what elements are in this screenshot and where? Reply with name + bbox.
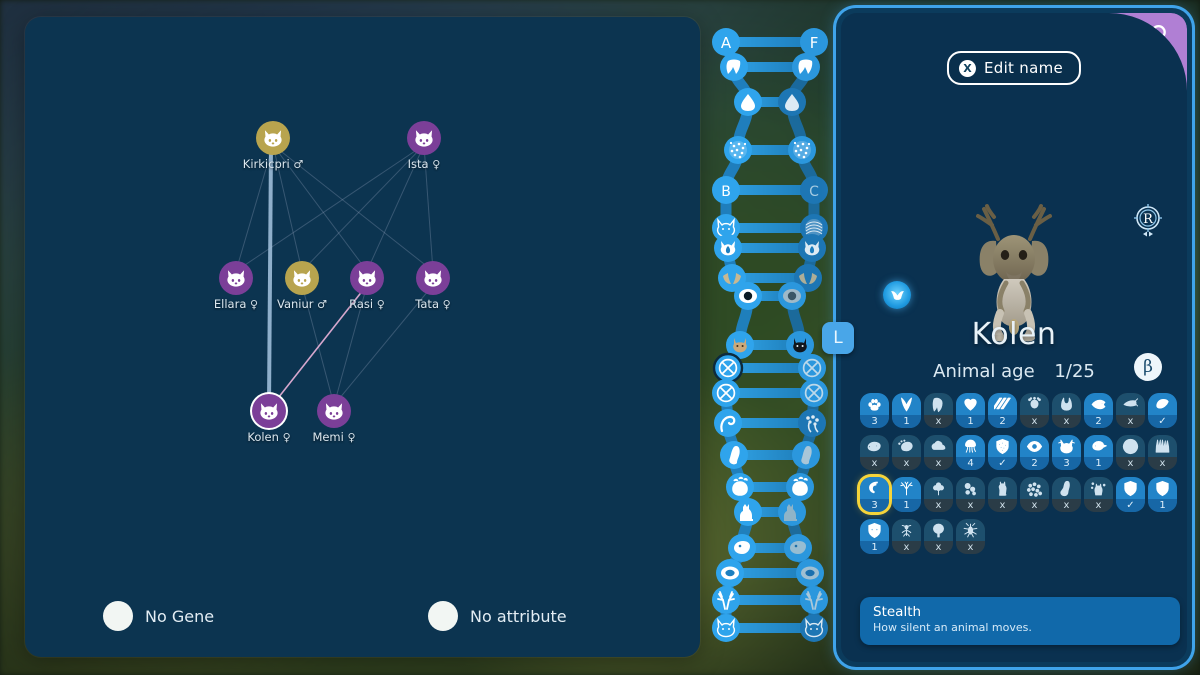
fish-icon bbox=[1084, 393, 1113, 416]
gene-cell-snout[interactable]: x bbox=[860, 435, 889, 470]
shield-snow-icon bbox=[1148, 477, 1177, 500]
gene-cell-value: x bbox=[924, 499, 953, 512]
gene-cell-beak[interactable]: 1 bbox=[1084, 435, 1113, 470]
gene-cell-spores[interactable]: x bbox=[1020, 477, 1049, 512]
helix-gene-left bbox=[721, 567, 739, 580]
gene-cell-value: x bbox=[1020, 415, 1049, 428]
legend-attribute-swatch bbox=[428, 601, 458, 631]
gene-tooltip: Stealth How silent an animal moves. bbox=[860, 597, 1180, 645]
helix-gene-left: B bbox=[721, 184, 731, 200]
gene-cell-value: x bbox=[988, 499, 1017, 512]
gene-cell-tree[interactable]: x bbox=[924, 519, 953, 554]
animal-head-icon bbox=[407, 121, 441, 155]
foot-icon bbox=[1052, 477, 1081, 500]
antler-icon bbox=[892, 477, 921, 500]
gene-cell-value: 1 bbox=[1148, 499, 1177, 512]
gene-cell-value: x bbox=[1084, 499, 1113, 512]
gene-cell-splash-cat[interactable]: x bbox=[1084, 477, 1113, 512]
gene-attribute-grid[interactable]: 31x12xx2x✓xxx4✓231xx31xxxxxx✓11xxx bbox=[860, 393, 1180, 554]
gene-cell-value: x bbox=[1052, 499, 1081, 512]
shield-spore-icon bbox=[988, 435, 1017, 458]
mane-icon bbox=[1148, 435, 1177, 458]
svg-text:C: C bbox=[809, 184, 819, 200]
helix-gene-right: C bbox=[809, 184, 819, 200]
beak-icon bbox=[1084, 435, 1113, 458]
tooltip-title: Stealth bbox=[873, 604, 1167, 621]
legend-no-attribute: No attribute bbox=[428, 601, 567, 631]
bug-icon bbox=[956, 519, 985, 542]
animal-head-icon bbox=[350, 261, 384, 295]
gene-cell-value: x bbox=[924, 415, 953, 428]
helix-gene-left bbox=[739, 289, 757, 303]
sniff-icon bbox=[892, 435, 921, 458]
gene-cell-value: x bbox=[1116, 457, 1145, 470]
gene-cell-value: ✓ bbox=[988, 457, 1017, 470]
shell-icon bbox=[1116, 435, 1145, 458]
gene-cell-value: 3 bbox=[860, 499, 889, 512]
legend-gene-label: No Gene bbox=[145, 607, 214, 626]
helix-gene-right bbox=[783, 289, 801, 303]
edit-name-label: Edit name bbox=[984, 59, 1063, 77]
gene-cell-shell[interactable]: x bbox=[1116, 435, 1145, 470]
gene-cell-insect[interactable]: x bbox=[892, 519, 921, 554]
gene-cell-value: x bbox=[892, 457, 921, 470]
gene-cell-value: x bbox=[892, 541, 921, 554]
gene-cell-cat-sit[interactable]: x bbox=[988, 477, 1017, 512]
dna-helix-graphic: AFBC bbox=[700, 0, 840, 675]
animal-age-label: Animal age bbox=[933, 361, 1035, 382]
speed-swirl-icon bbox=[860, 477, 889, 500]
insect-icon bbox=[892, 519, 921, 542]
tooltip-description: How silent an animal moves. bbox=[873, 621, 1167, 636]
tree-node-sex-glyph: ♀ bbox=[443, 298, 451, 311]
tail-fin-icon bbox=[892, 393, 921, 416]
animal-age-row: Animal age 1/25 bbox=[841, 361, 1187, 382]
leaf-bite-icon bbox=[1148, 393, 1177, 416]
gene-cell-value: x bbox=[1052, 415, 1081, 428]
helix-gene-right bbox=[793, 141, 811, 159]
tree-icon bbox=[924, 519, 953, 542]
x-button-icon: X bbox=[959, 60, 976, 77]
snout-icon bbox=[860, 435, 889, 458]
claw-icon bbox=[1052, 393, 1081, 416]
cat-sit-icon bbox=[988, 477, 1017, 500]
tree-node-label: Tata ♀ bbox=[343, 297, 523, 311]
cloud-icon bbox=[924, 435, 953, 458]
gene-cell-value: 4 bbox=[956, 457, 985, 470]
helix-gene-right: F bbox=[810, 34, 819, 52]
gene-cell-shield-tree[interactable]: ✓ bbox=[1116, 477, 1145, 512]
helix-gene-left: A bbox=[721, 34, 732, 52]
head-ears-icon bbox=[1052, 435, 1081, 458]
fur-tuft-icon bbox=[924, 393, 953, 416]
gene-cell-claw[interactable]: x bbox=[1052, 393, 1081, 428]
tree-node-sex-glyph: ♀ bbox=[348, 431, 356, 444]
animal-age-value: 1/25 bbox=[1054, 361, 1094, 382]
gene-cell-antler[interactable]: 1 bbox=[892, 477, 921, 512]
gene-cell-bubbles[interactable]: x bbox=[956, 477, 985, 512]
tree-node-sex-glyph: ♂ bbox=[293, 158, 303, 171]
animal-head-icon bbox=[219, 261, 253, 295]
gene-cell-spray[interactable]: x bbox=[1020, 393, 1049, 428]
gene-cell-value: x bbox=[860, 457, 889, 470]
animal-head-icon bbox=[416, 261, 450, 295]
gene-cell-bug[interactable]: x bbox=[956, 519, 985, 554]
r-stick-rotate-control[interactable]: R bbox=[1131, 203, 1165, 237]
family-tree-edges bbox=[25, 17, 700, 657]
gene-cell-value: 2 bbox=[988, 415, 1017, 428]
splash-cat-icon bbox=[1084, 477, 1113, 500]
gene-cell-value: 2 bbox=[1084, 415, 1113, 428]
gene-cell-stripes[interactable]: 2 bbox=[988, 393, 1017, 428]
legend-no-gene: No Gene bbox=[103, 601, 214, 631]
gene-cell-shield-paw[interactable]: 1 bbox=[860, 519, 889, 554]
stripes-icon bbox=[988, 393, 1017, 416]
gene-cell-value: 1 bbox=[860, 541, 889, 554]
r-badge-letter: R bbox=[1143, 212, 1154, 227]
gene-cell-value: 2 bbox=[1020, 457, 1049, 470]
bubbles-icon bbox=[956, 477, 985, 500]
helix-gene-right bbox=[801, 567, 819, 580]
gene-cell-sniff[interactable]: x bbox=[892, 435, 921, 470]
gene-cell-tail-fin[interactable]: 1 bbox=[892, 393, 921, 428]
animal-head-icon bbox=[317, 394, 351, 428]
svg-text:F: F bbox=[810, 34, 819, 52]
gene-cell-value: 3 bbox=[860, 415, 889, 428]
gene-cell-value: 1 bbox=[1084, 457, 1113, 470]
gene-cell-value: x bbox=[1148, 457, 1177, 470]
meat-icon bbox=[1116, 393, 1145, 416]
gene-grid-row: xxx4✓231xx bbox=[860, 435, 1180, 470]
gene-cell-mane[interactable]: x bbox=[1148, 435, 1177, 470]
flower-icon bbox=[924, 477, 953, 500]
gene-cell-fish[interactable]: 2 bbox=[1084, 393, 1113, 428]
svg-text:A: A bbox=[721, 34, 732, 52]
gene-cell-shield-spore[interactable]: ✓ bbox=[988, 435, 1017, 470]
gene-grid-row: 31xxxxxx✓1 bbox=[860, 477, 1180, 512]
shield-paw-icon bbox=[860, 519, 889, 542]
species-bird-icon[interactable] bbox=[883, 281, 911, 309]
animal-head-icon bbox=[256, 121, 290, 155]
gene-cell-value: x bbox=[924, 457, 953, 470]
gene-cell-flower[interactable]: x bbox=[924, 477, 953, 512]
gene-cell-head-ears[interactable]: 3 bbox=[1052, 435, 1081, 470]
animal-head-icon bbox=[252, 394, 286, 428]
animal-name: Kolen bbox=[841, 317, 1187, 352]
gene-cell-value: x bbox=[1020, 499, 1049, 512]
gene-cell-value: 1 bbox=[892, 499, 921, 512]
edit-name-button[interactable]: X Edit name bbox=[947, 51, 1081, 85]
l-button-label: L bbox=[833, 328, 842, 348]
svg-text:B: B bbox=[721, 184, 731, 200]
tree-node-sex-glyph: ♀ bbox=[432, 158, 440, 171]
gene-cell-value: ✓ bbox=[1148, 415, 1177, 428]
gene-grid-row: 31x12xx2x✓ bbox=[860, 393, 1180, 428]
gene-cell-leaf-bite[interactable]: ✓ bbox=[1148, 393, 1177, 428]
eye-icon bbox=[1020, 435, 1049, 458]
legend-gene-swatch bbox=[103, 601, 133, 631]
gene-cell-paw[interactable]: 3 bbox=[860, 393, 889, 428]
gene-cell-jellyfish[interactable]: 4 bbox=[956, 435, 985, 470]
paw-icon bbox=[860, 393, 889, 416]
gene-cell-value: 1 bbox=[956, 415, 985, 428]
l-shoulder-button[interactable]: L bbox=[822, 322, 854, 354]
legend-attribute-label: No attribute bbox=[470, 607, 567, 626]
gene-cell-speed-swirl[interactable]: 3 bbox=[860, 477, 889, 512]
spores-icon bbox=[1020, 477, 1049, 500]
sex-indicator: ♀ bbox=[1109, 13, 1187, 91]
gene-cell-value: 1 bbox=[892, 415, 921, 428]
gene-cell-foot[interactable]: x bbox=[1052, 477, 1081, 512]
gene-cell-value: ✓ bbox=[1116, 499, 1145, 512]
gene-cell-value: x bbox=[924, 541, 953, 554]
sex-glyph: ♀ bbox=[1149, 23, 1168, 49]
tree-node-label: Memi ♀ bbox=[244, 430, 424, 444]
gene-cell-shield-snow[interactable]: 1 bbox=[1148, 477, 1177, 512]
family-tree-panel: Kirkicpri ♂Ista ♀Ellara ♀Vaniur ♂Rasi ♀T… bbox=[25, 17, 700, 657]
shield-tree-icon bbox=[1116, 477, 1145, 500]
dna-helix[interactable]: AFBC bbox=[700, 0, 840, 675]
heart-icon bbox=[956, 393, 985, 416]
gene-cell-fur-tuft[interactable]: x bbox=[924, 393, 953, 428]
animal-detail-panel: ♀ X Edit name bbox=[836, 8, 1192, 667]
tree-node-label: Ista ♀ bbox=[334, 157, 514, 171]
gene-cell-meat[interactable]: x bbox=[1116, 393, 1145, 428]
gene-cell-value: 3 bbox=[1052, 457, 1081, 470]
helix-gene-left bbox=[729, 141, 747, 159]
gene-grid-row: 1xxx bbox=[860, 519, 1180, 554]
gene-cell-cloud[interactable]: x bbox=[924, 435, 953, 470]
gene-cell-heart[interactable]: 1 bbox=[956, 393, 985, 428]
gene-cell-value: x bbox=[956, 541, 985, 554]
jellyfish-icon bbox=[956, 435, 985, 458]
spray-icon bbox=[1020, 393, 1049, 416]
animal-head-icon bbox=[285, 261, 319, 295]
gene-cell-value: x bbox=[956, 499, 985, 512]
gene-cell-value: x bbox=[1116, 415, 1145, 428]
gene-cell-eye[interactable]: 2 bbox=[1020, 435, 1049, 470]
